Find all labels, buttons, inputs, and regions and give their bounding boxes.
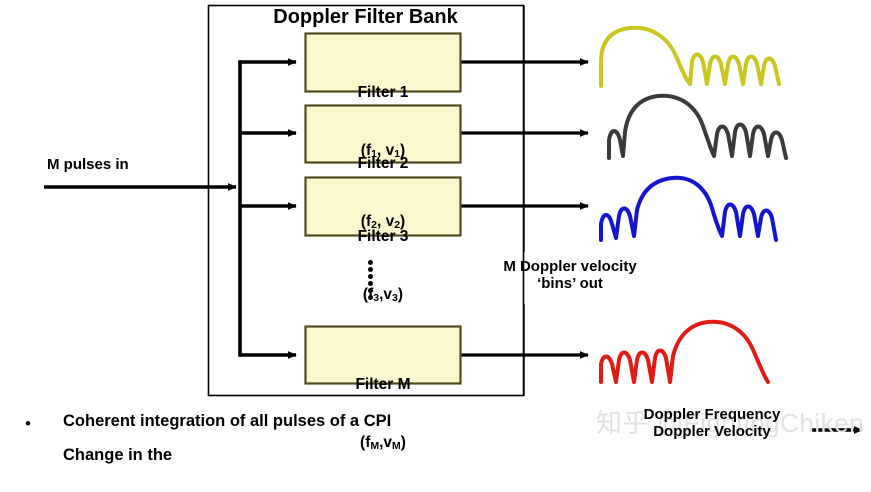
bullet-text-2: Change in the (63, 446, 172, 465)
doppler-filter-bank-diagram: Doppler Filter Bank M pulses in M Dopple… (0, 0, 871, 452)
filter-1-name: Filter 1 (305, 83, 461, 102)
bullet-text-1: Coherent integration of all pulses of a … (63, 412, 391, 431)
vertical-ellipsis-icon (368, 260, 378, 302)
filter-2-name: Filter 2 (305, 154, 461, 173)
filter-m-response-curve (601, 322, 768, 382)
output-label: M Doppler velocity ‘bins’ out (470, 258, 670, 293)
filter-3-label: Filter 3 (f3,v3) (305, 188, 461, 344)
page-title: Doppler Filter Bank (208, 6, 523, 29)
filter-1-response-curve (601, 28, 779, 86)
filter-2-response-curve (609, 96, 786, 158)
filter-3-response-curve (601, 178, 776, 240)
bullet-marker-1: • (25, 415, 31, 432)
filter-3-name: Filter 3 (305, 227, 461, 246)
input-label: M pulses in (47, 156, 129, 173)
axis-label: Doppler Frequency Doppler Velocity (597, 406, 827, 441)
filter-m-params: (fM,vM) (305, 433, 461, 453)
filter-m-name: Filter M (305, 375, 461, 394)
filter-3-params: (f3,v3) (305, 285, 461, 305)
